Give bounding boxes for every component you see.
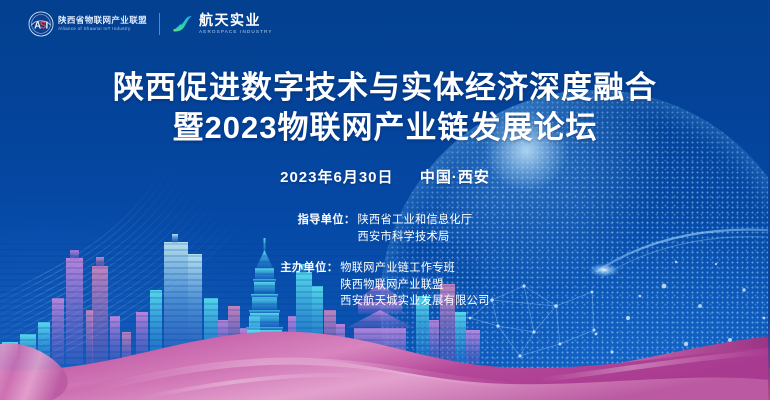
event-location: 中国·西安 <box>420 169 490 186</box>
event-poster: A S I 陕西省物联网产业联盟 Alliance of Shaanxi IoT… <box>0 0 770 400</box>
logo-bar: A S I 陕西省物联网产业联盟 Alliance of Shaanxi IoT… <box>28 11 273 37</box>
host-unit-item: 物联网产业链工作专班 <box>340 260 489 277</box>
title-line-1: 陕西促进数字技术与实体经济深度融合 <box>113 70 657 105</box>
aerospace-en-name: AEROSPACE INDUSTRY <box>199 28 273 35</box>
host-units-block: 主办单位： 物联网产业链工作专班 陕西物联网产业联盟 西安航天城实业发展有限公司 <box>280 260 489 310</box>
asi-en-name: Alliance of Shaanxi IoT Industry <box>58 26 147 32</box>
guidance-units-values: 陕西省工业和信息化厅 西安市科学技术局 <box>358 212 473 245</box>
host-units-values: 物联网产业链工作专班 陕西物联网产业联盟 西安航天城实业发展有限公司 <box>340 260 489 310</box>
host-unit-item: 陕西物联网产业联盟 <box>340 277 489 294</box>
logo-divider <box>159 13 160 35</box>
asi-logo-text: 陕西省物联网产业联盟 Alliance of Shaanxi IoT Indus… <box>58 16 147 32</box>
host-unit-item: 西安航天城实业发展有限公司 <box>340 293 489 310</box>
poster-content: 陕西促进数字技术与实体经济深度融合 暨2023物联网产业链发展论坛 2023年6… <box>0 0 770 310</box>
guidance-units-block: 指导单位： 陕西省工业和信息化厅 西安市科学技术局 <box>298 212 473 245</box>
asi-emblem-icon: A S I <box>28 11 54 37</box>
guidance-unit-item: 陕西省工业和信息化厅 <box>358 212 473 229</box>
host-units-label: 主办单位： <box>280 260 340 277</box>
event-date: 2023年6月30日 <box>280 169 393 186</box>
organizer-list: 指导单位： 陕西省工业和信息化厅 西安市科学技术局 主办单位： 物联网产业链工作… <box>0 212 770 310</box>
aerospace-cn-name: 航天实业 <box>199 13 273 28</box>
page-title: 陕西促进数字技术与实体经济深度融合 暨2023物联网产业链发展论坛 <box>0 68 770 148</box>
asi-cn-name: 陕西省物联网产业联盟 <box>58 16 147 25</box>
event-datetime-location: 2023年6月30日 中国·西安 <box>0 166 770 187</box>
svg-text:I: I <box>46 21 49 32</box>
asi-logo: A S I 陕西省物联网产业联盟 Alliance of Shaanxi IoT… <box>28 11 147 37</box>
aerospace-logo: 航天实业 AEROSPACE INDUSTRY <box>172 13 273 35</box>
guidance-units-label: 指导单位： <box>298 212 358 229</box>
aerospace-swoosh-icon <box>172 14 194 34</box>
guidance-unit-item: 西安市科学技术局 <box>358 229 473 246</box>
aerospace-logo-text: 航天实业 AEROSPACE INDUSTRY <box>199 13 273 35</box>
title-line-2: 暨2023物联网产业链发展论坛 <box>0 108 770 148</box>
